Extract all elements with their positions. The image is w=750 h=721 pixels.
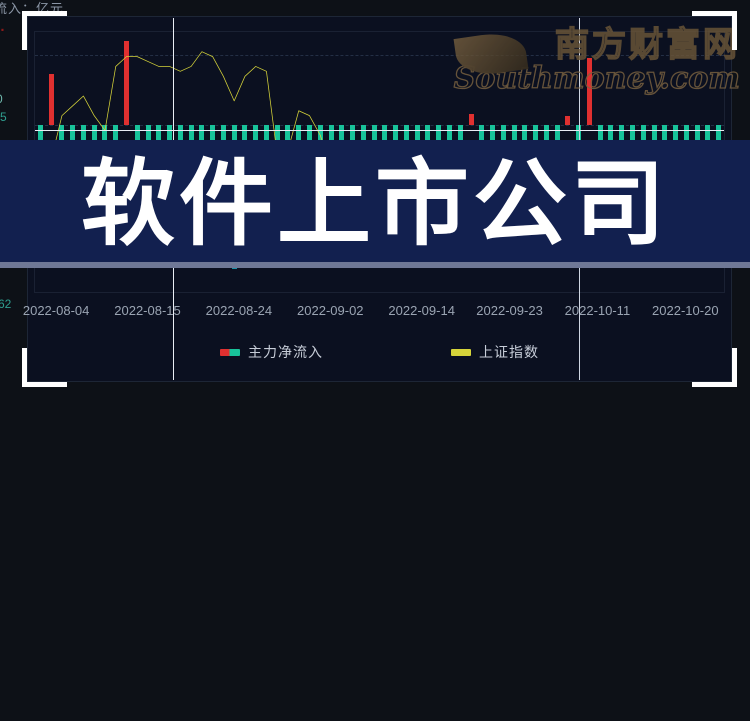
page-title: 软件上市公司 [0, 146, 750, 264]
y-axis-tick-label: .25 [0, 110, 7, 124]
chart-legend: 主力净流入上证指数 [28, 341, 731, 363]
screenshot-root: 流入：亿元 9. 2022-08-042022-08-152022-08-242… [0, 0, 750, 400]
legend-item[interactable]: 上证指数 [451, 342, 539, 362]
legend-swatch-icon [451, 349, 471, 356]
x-axis-tick-label: 2022-10-20 [652, 303, 719, 318]
cropped-header-value: 9. [0, 18, 5, 35]
cropped-header-label: 流入：亿元 [0, 0, 64, 17]
legend-label: 主力净流入 [248, 342, 323, 362]
x-axis-tick-label: 2022-08-15 [114, 303, 181, 318]
crosshair-horizontal[interactable] [35, 130, 724, 131]
x-axis-tick-label: 2022-09-14 [388, 303, 455, 318]
x-axis-tick-label: 2022-09-02 [297, 303, 364, 318]
x-axis-tick-label: 2022-08-24 [206, 303, 273, 318]
y-axis-tick-label: 0 [0, 92, 3, 106]
x-axis-tick-label: 2022-08-04 [23, 303, 90, 318]
x-axis: 2022-08-042022-08-152022-08-242022-09-02… [28, 303, 731, 323]
index-line-layer [35, 32, 724, 721]
x-axis-tick-label: 2022-10-11 [565, 303, 631, 318]
legend-label: 上证指数 [479, 342, 539, 362]
y-axis-tick-label: 62 [0, 297, 11, 311]
x-axis-tick-label: 2022-09-23 [476, 303, 543, 318]
legend-item[interactable]: 主力净流入 [220, 342, 323, 362]
legend-swatch-icon [220, 349, 240, 356]
